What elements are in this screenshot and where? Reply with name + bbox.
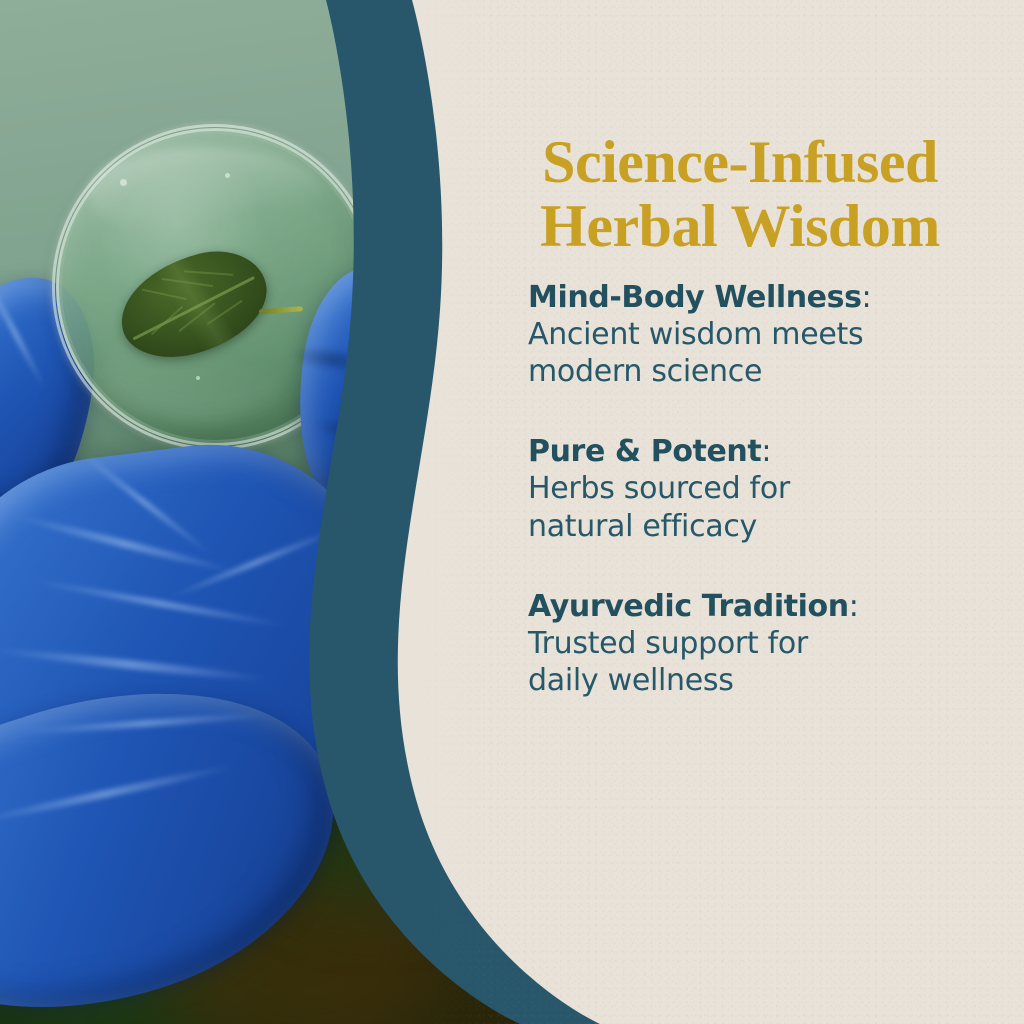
- feature-item-pure-and-potent: Pure & Potent: Herbs sourced for natural…: [528, 434, 998, 544]
- feature-text-line-1: Ancient wisdom meets: [528, 316, 998, 353]
- feature-text-line-2: natural efficacy: [528, 508, 998, 545]
- headline-line-2: Herbal Wisdom: [470, 194, 1010, 258]
- feature-label: Ayurvedic Tradition:: [528, 589, 998, 625]
- poster-content: Science-Infused Herbal Wisdom Mind-Body …: [0, 0, 1024, 1024]
- feature-label-colon: :: [849, 589, 859, 624]
- feature-label-text: Ayurvedic Tradition: [528, 589, 849, 624]
- page-title: Science-Infused Herbal Wisdom: [470, 130, 1010, 258]
- feature-text-line-2: modern science: [528, 353, 998, 390]
- feature-text-line-1: Herbs sourced for: [528, 470, 998, 507]
- feature-label: Mind-Body Wellness:: [528, 280, 998, 316]
- poster-canvas: Science-Infused Herbal Wisdom Mind-Body …: [0, 0, 1024, 1024]
- feature-item-ayurvedic-tradition: Ayurvedic Tradition: Trusted support for…: [528, 589, 998, 699]
- feature-text-line-1: Trusted support for: [528, 625, 998, 662]
- feature-item-mind-body-wellness: Mind-Body Wellness: Ancient wisdom meets…: [528, 280, 998, 390]
- feature-label-colon: :: [761, 434, 771, 469]
- feature-text-line-2: daily wellness: [528, 662, 998, 699]
- feature-list: Mind-Body Wellness: Ancient wisdom meets…: [528, 280, 998, 699]
- feature-label: Pure & Potent:: [528, 434, 998, 470]
- feature-label-colon: :: [862, 280, 872, 315]
- feature-label-text: Pure & Potent: [528, 434, 761, 469]
- headline-line-1: Science-Infused: [470, 130, 1010, 194]
- feature-label-text: Mind-Body Wellness: [528, 280, 862, 315]
